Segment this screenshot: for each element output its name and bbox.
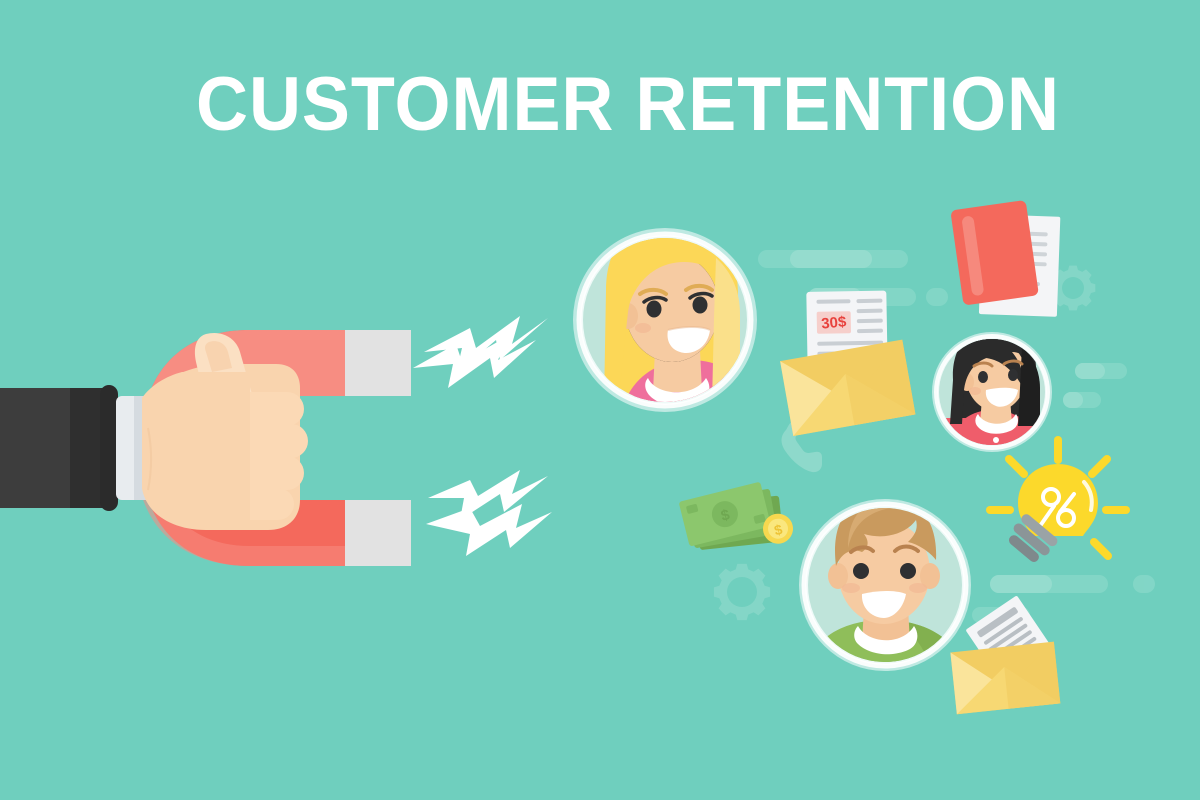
page-title: CUSTOMER RETENTION <box>196 62 1060 147</box>
decor-bar-1-highlight <box>790 250 872 268</box>
customer-retention-illustration: CUSTOMER RETENTION <box>0 0 1200 800</box>
cheek-right <box>909 583 927 593</box>
decor-bar-4-highlight <box>1075 363 1105 379</box>
decor-bar-5-highlight <box>1063 392 1083 408</box>
decor-bar-6-highlight <box>990 575 1052 593</box>
hand-palm-front <box>142 372 250 528</box>
cheek-left <box>842 583 860 593</box>
cheek-left <box>635 323 651 333</box>
coupon-discount-label: 30$ <box>821 313 848 332</box>
gear-icon-bottom <box>714 564 770 620</box>
eye-left <box>978 371 988 383</box>
illustration-canvas: CUSTOMER RETENTION <box>0 0 1200 800</box>
eye-left <box>647 301 662 318</box>
decor-bar-7 <box>1133 575 1155 593</box>
suit-sleeve-cuff-edge <box>100 385 118 511</box>
magnet-tip-top <box>345 330 411 396</box>
eye-right <box>900 563 916 579</box>
shirt-button <box>993 437 999 443</box>
magnet-tip-bottom <box>345 500 411 566</box>
folder-cover <box>950 200 1039 306</box>
eye-left <box>853 563 869 579</box>
eye-right <box>693 297 708 314</box>
decor-bar-3 <box>926 288 948 306</box>
cheek-left <box>969 387 981 395</box>
eye-right <box>1008 369 1018 381</box>
